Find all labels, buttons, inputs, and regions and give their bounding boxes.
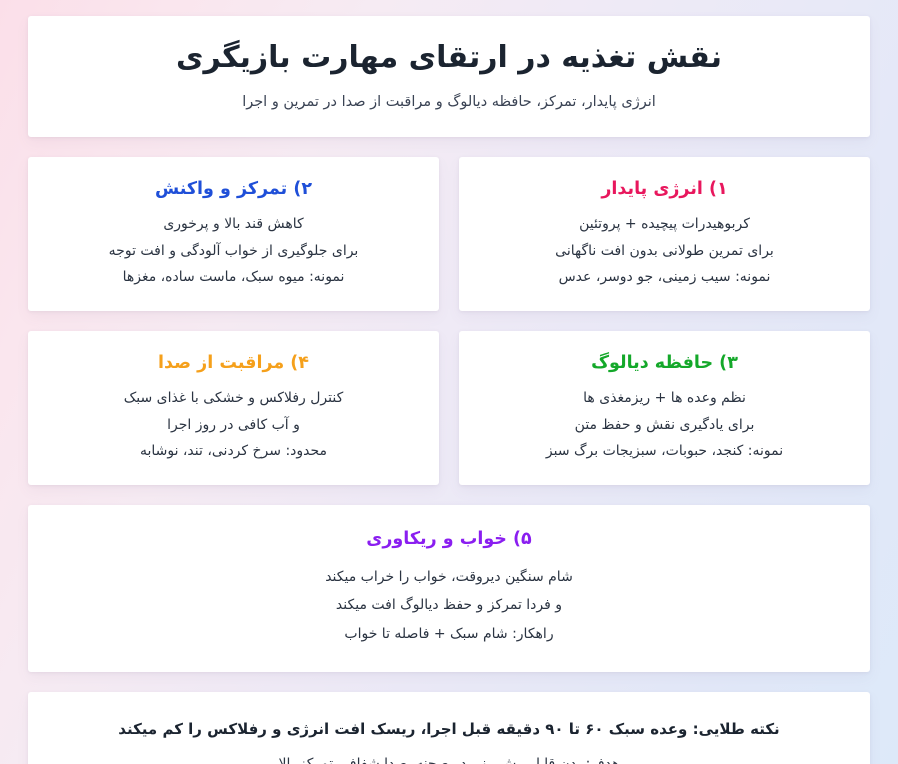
- note-sub-text: هدف: بدن قابل پیش بینی در صحنه، صدا شفاف…: [52, 754, 846, 764]
- topic-line: برای جلوگیری از خواب آلودگی و افت توجه: [46, 241, 421, 263]
- topic-title: ۵) خواب و ریکاوری: [52, 528, 846, 551]
- topic-line: و فردا تمرکز و حفظ دیالوگ افت میکند: [52, 595, 846, 617]
- topic-line: برای تمرین طولانی بدون افت ناگهانی: [477, 241, 852, 263]
- topic-card-sleep: ۵) خواب و ریکاوری شام سنگین دیروقت، خواب…: [28, 505, 870, 672]
- topic-line: و آب کافی در روز اجرا: [46, 415, 421, 437]
- topic-line: محدود: سرخ کردنی، تند، نوشابه: [46, 441, 421, 463]
- topic-row-1: ۱) انرژی پایدار کربوهیدرات پیچیده + پروت…: [28, 157, 870, 311]
- topic-body: کاهش قند بالا و پرخوری برای جلوگیری از خ…: [46, 214, 421, 289]
- note-main-text: نکته طلایی: وعده سبک ۶۰ تا ۹۰ دقیقه قبل …: [52, 718, 846, 741]
- topic-line: شام سنگین دیروقت، خواب را خراب میکند: [52, 567, 846, 589]
- topic-body: کنترل رفلاکس و خشکی با غذای سبک و آب کاف…: [46, 388, 421, 463]
- topic-title: ۴) مراقبت از صدا: [46, 352, 421, 375]
- topic-line: نمونه: سیب زمینی، جو دوسر، عدس: [477, 267, 852, 289]
- topic-title: ۳) حافظه دیالوگ: [477, 352, 852, 375]
- topic-line: کنترل رفلاکس و خشکی با غذای سبک: [46, 388, 421, 410]
- topic-body: نظم وعده ها + ریزمغذی ها برای یادگیری نق…: [477, 388, 852, 463]
- topic-card-voice: ۴) مراقبت از صدا کنترل رفلاکس و خشکی با …: [28, 331, 439, 485]
- topic-body: شام سنگین دیروقت، خواب را خراب میکند و ف…: [52, 567, 846, 646]
- golden-tip-note: نکته طلایی: وعده سبک ۶۰ تا ۹۰ دقیقه قبل …: [28, 692, 870, 764]
- topic-card-energy: ۱) انرژی پایدار کربوهیدرات پیچیده + پروت…: [459, 157, 870, 311]
- topic-title: ۱) انرژی پایدار: [477, 178, 852, 201]
- page-title: نقش تغذیه در ارتقای مهارت بازیگری: [52, 38, 846, 79]
- topic-row-2: ۳) حافظه دیالوگ نظم وعده ها + ریزمغذی ها…: [28, 331, 870, 485]
- topic-card-memory: ۳) حافظه دیالوگ نظم وعده ها + ریزمغذی ها…: [459, 331, 870, 485]
- page-subtitle: انرژی پایدار، تمرکز، حافظه دیالوگ و مراق…: [52, 92, 846, 114]
- topic-line: نظم وعده ها + ریزمغذی ها: [477, 388, 852, 410]
- header-banner: نقش تغذیه در ارتقای مهارت بازیگری انرژی …: [28, 16, 870, 137]
- topic-line: راهکار: شام سبک + فاصله تا خواب: [52, 624, 846, 646]
- topic-line: برای یادگیری نقش و حفظ متن: [477, 415, 852, 437]
- topic-line: کربوهیدرات پیچیده + پروتئین: [477, 214, 852, 236]
- topic-line: نمونه: کنجد، حبوبات، سبزیجات برگ سبز: [477, 441, 852, 463]
- topic-line: کاهش قند بالا و پرخوری: [46, 214, 421, 236]
- topic-card-focus: ۲) تمرکز و واکنش کاهش قند بالا و پرخوری …: [28, 157, 439, 311]
- topic-line: نمونه: میوه سبک، ماست ساده، مغزها: [46, 267, 421, 289]
- topic-body: کربوهیدرات پیچیده + پروتئین برای تمرین ط…: [477, 214, 852, 289]
- topic-title: ۲) تمرکز و واکنش: [46, 178, 421, 201]
